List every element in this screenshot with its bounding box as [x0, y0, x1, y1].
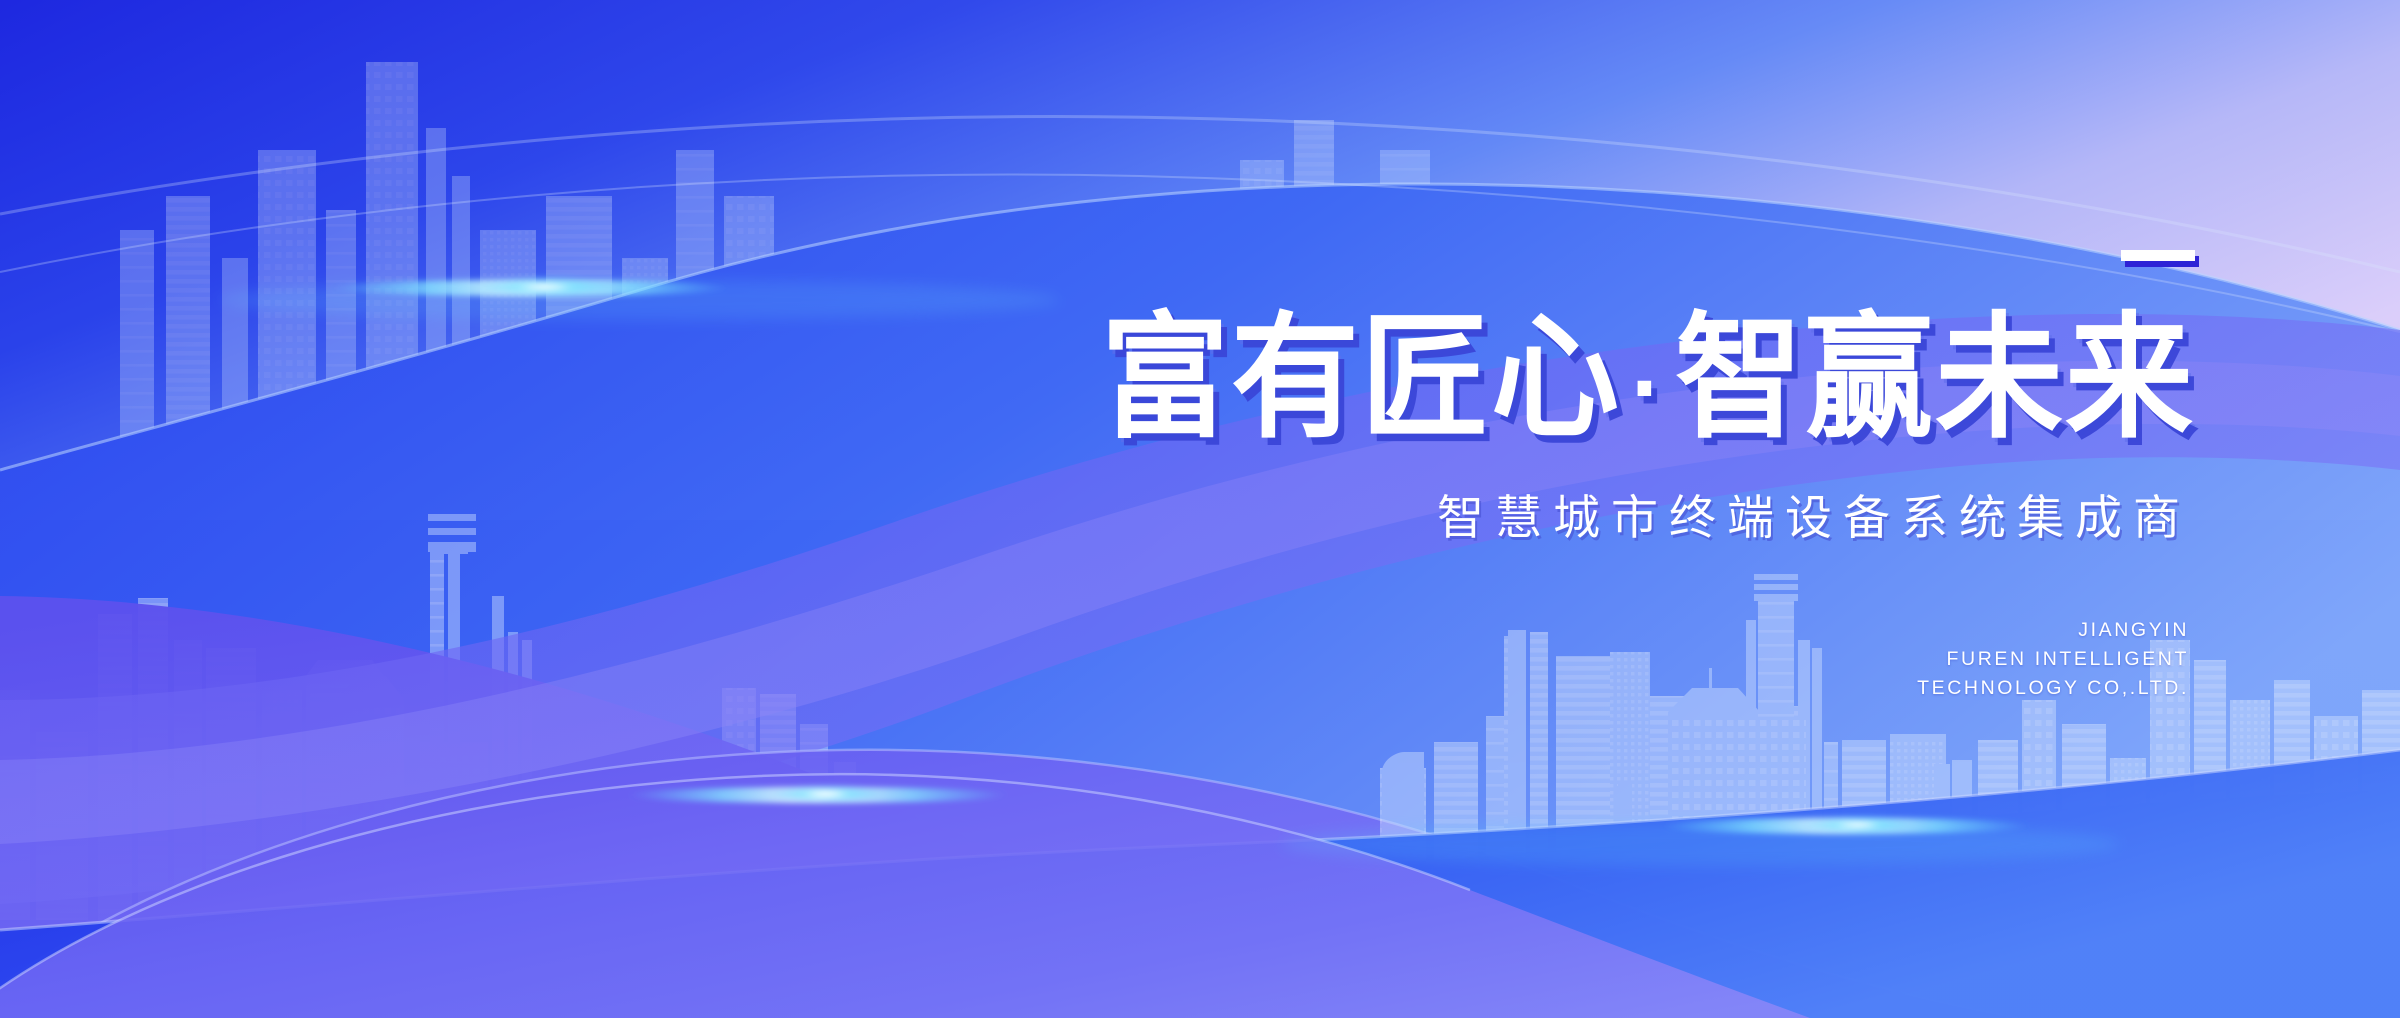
company-line-1: JIANGYIN	[995, 616, 2189, 645]
company-line-3: TECHNOLOGY CO,.LTD.	[995, 674, 2189, 703]
headline-block: 富有匠心·智赢未来 智慧城市终端设备系统集成商 JIANGYIN FUREN I…	[995, 250, 2195, 703]
company-name-block: JIANGYIN FUREN INTELLIGENT TECHNOLOGY CO…	[995, 616, 2195, 703]
banner-poster: 富有匠心·智赢未来 智慧城市终端设备系统集成商 JIANGYIN FUREN I…	[0, 0, 2400, 1018]
horizontal-dash-icon	[2121, 250, 2195, 261]
glow-wash-right	[1280, 822, 2120, 866]
main-title-part-1: 富有匠心	[1101, 303, 1621, 455]
glow-wash-top	[220, 280, 1060, 320]
main-title-part-2: 智赢未来	[1675, 303, 2195, 455]
company-line-2: FUREN INTELLIGENT	[995, 645, 2189, 674]
page-title: 富有匠心·智赢未来	[995, 311, 2195, 447]
dash-decoration-wrap	[995, 250, 2195, 261]
title-separator-dot: ·	[1621, 332, 1675, 445]
page-subtitle: 智慧城市终端设备系统集成商	[995, 479, 2195, 548]
